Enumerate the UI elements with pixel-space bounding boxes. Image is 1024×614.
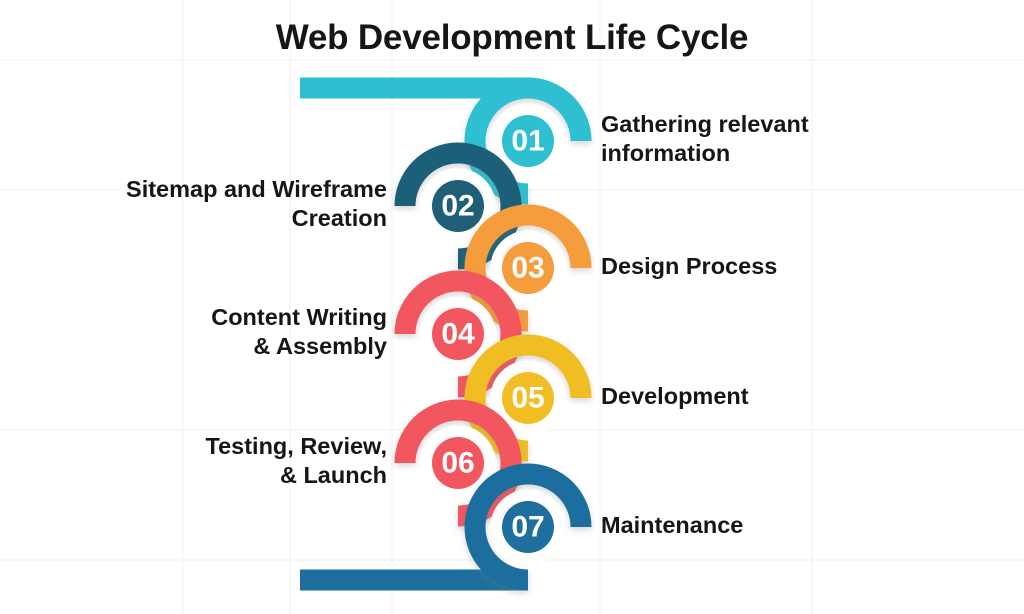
- step-label-05: Development: [601, 382, 1004, 411]
- step-label-01: Gathering relevant information: [601, 110, 1004, 167]
- step-number: 06: [441, 447, 474, 480]
- step-number: 07: [511, 511, 544, 544]
- step-04[interactable]: 04: [405, 281, 511, 387]
- step-number: 05: [511, 382, 544, 415]
- step-number: 03: [511, 252, 544, 285]
- step-label-04: Content Writing & Assembly: [30, 303, 387, 360]
- step-07[interactable]: 07: [475, 474, 581, 580]
- infographic-canvas: Web Development Life Cycle 0102030405060…: [0, 0, 1024, 614]
- step-06[interactable]: 06: [405, 410, 511, 516]
- step-label-06: Testing, Review, & Launch: [30, 432, 387, 489]
- step-label-07: Maintenance: [601, 511, 1004, 540]
- step-02[interactable]: 02: [405, 153, 511, 259]
- step-number: 02: [441, 190, 474, 223]
- step-number: 04: [441, 318, 475, 351]
- step-label-02: Sitemap and Wireframe Creation: [30, 175, 387, 232]
- step-label-03: Design Process: [601, 252, 1004, 281]
- step-number: 01: [511, 125, 544, 158]
